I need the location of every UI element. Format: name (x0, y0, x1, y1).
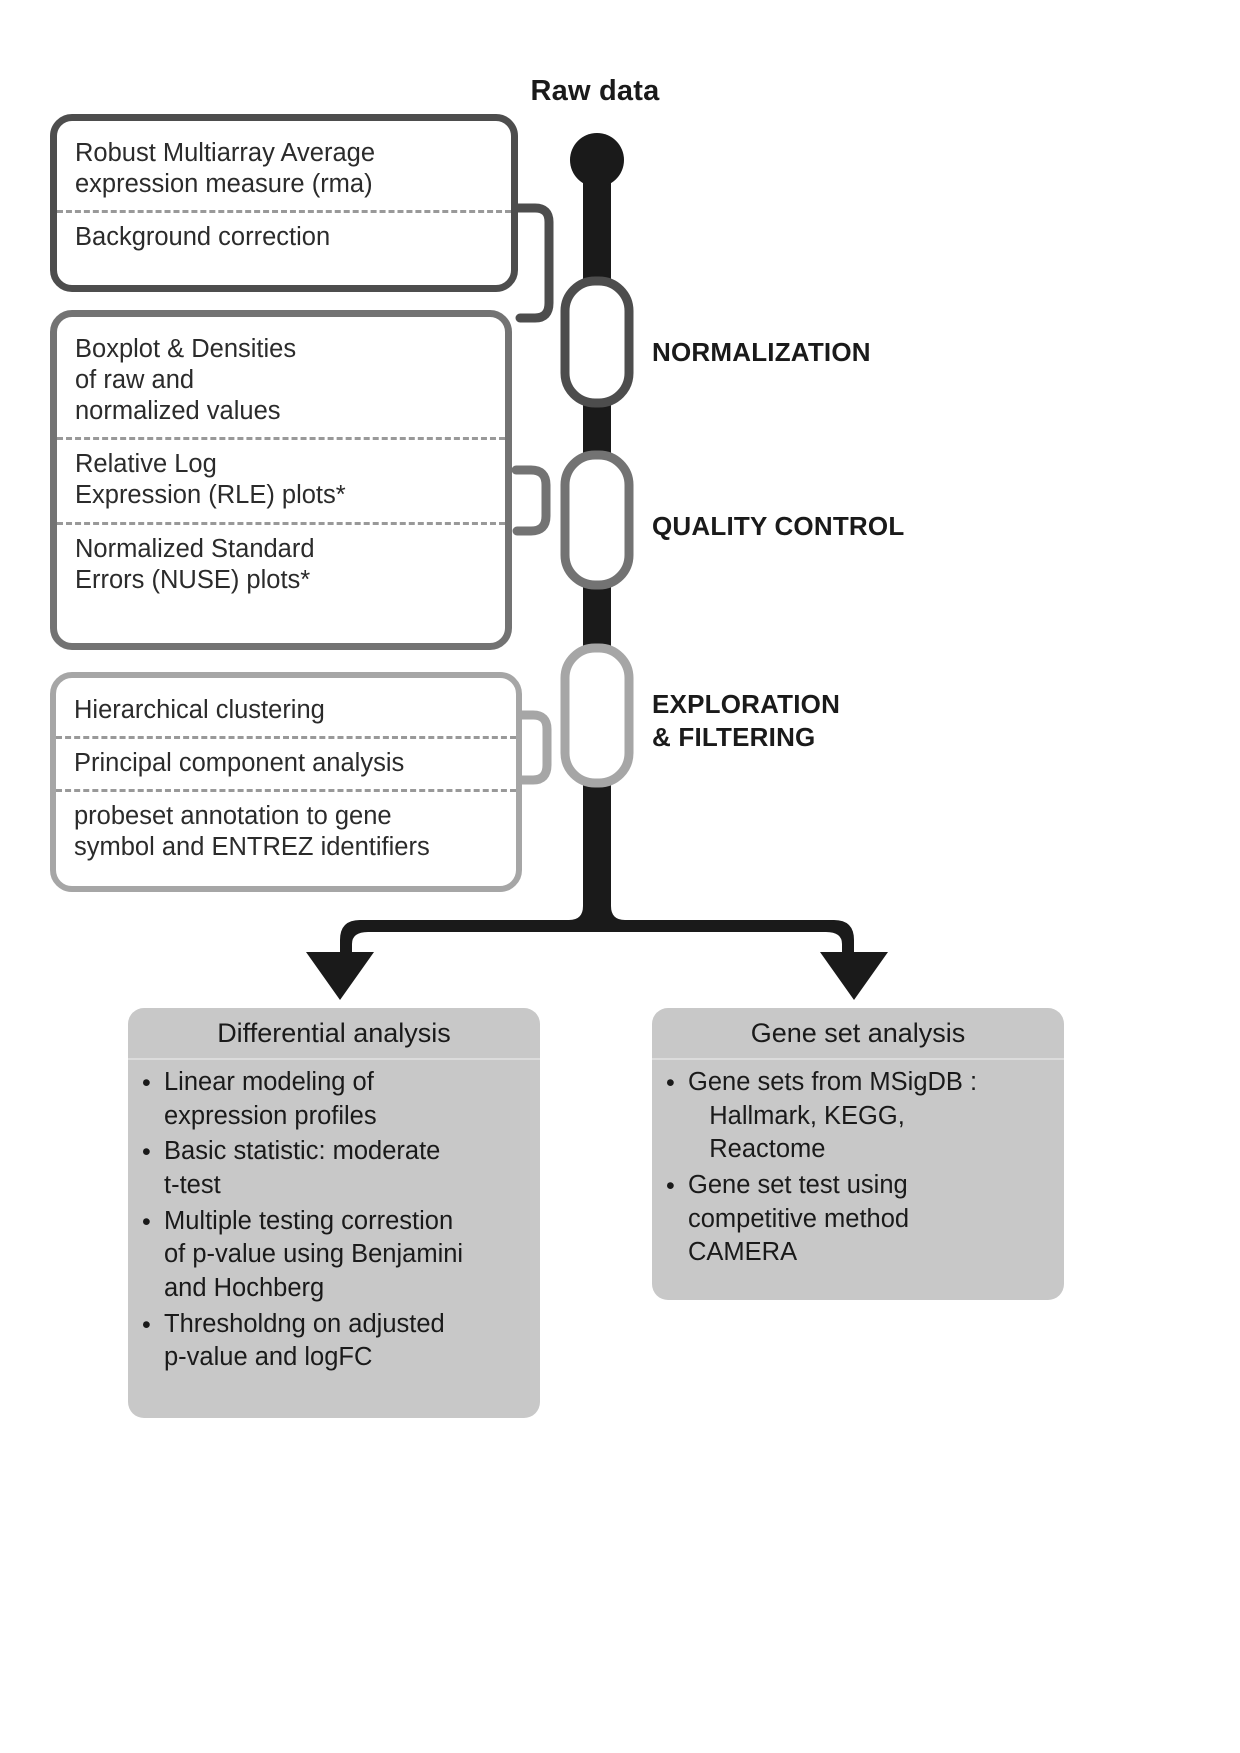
raw-data-node (570, 133, 624, 187)
bullet-icon: • (666, 1066, 688, 1100)
bullet-icon: • (666, 1169, 688, 1203)
stage-item-boxplot-densities: Boxplot & Densities of raw and normalize… (57, 325, 505, 437)
node-normalization (565, 281, 629, 403)
panel-body-differential-analysis: • Linear modeling of expression profiles… (128, 1060, 540, 1393)
panel-title-differential-analysis: Differential analysis (128, 1008, 540, 1060)
panel-title-gene-set-analysis: Gene set analysis (652, 1008, 1064, 1060)
bullet-text-linear-modeling: Linear modeling of expression profiles (164, 1066, 526, 1133)
list-item: • Thresholdng on adjusted p-value and lo… (142, 1308, 526, 1375)
connector-normalization (518, 208, 549, 318)
bullet-icon: • (142, 1205, 164, 1239)
bullet-text-basic-statistic: Basic statistic: moderate t-test (164, 1135, 526, 1202)
phase-label-quality-control: QUALITY CONTROL (652, 510, 904, 543)
bullet-text-gene-sets-msigdb: Gene sets from MSigDB : Hallmark, KEGG, … (688, 1066, 1050, 1167)
page-title: Raw data (430, 75, 760, 108)
list-item: • Gene sets from MSigDB : Hallmark, KEGG… (666, 1066, 1050, 1167)
workflow-diagram: Raw data Robust Multiarray Average expre… (0, 0, 1240, 1753)
connector-exploration (519, 715, 547, 780)
list-item: • Linear modeling of expression profiles (142, 1066, 526, 1133)
branch-fork-arrows (306, 880, 888, 1000)
bullet-icon: • (142, 1066, 164, 1100)
phase-label-normalization: NORMALIZATION (652, 336, 871, 369)
stage-item-pca: Principal component analysis (56, 736, 516, 789)
stage-item-hierarchical-clustering: Hierarchical clustering (56, 686, 516, 736)
stage-box-normalization: Robust Multiarray Average expression mea… (50, 114, 518, 292)
list-item: • Basic statistic: moderate t-test (142, 1135, 526, 1202)
stage-item-probeset-annotation: probeset annotation to gene symbol and E… (56, 789, 516, 873)
stage-box-quality-control: Boxplot & Densities of raw and normalize… (50, 310, 512, 650)
panel-body-gene-set-analysis: • Gene sets from MSigDB : Hallmark, KEGG… (652, 1060, 1064, 1288)
panel-gene-set-analysis: Gene set analysis • Gene sets from MSigD… (652, 1008, 1064, 1300)
bullet-text-camera: Gene set test using competitive method C… (688, 1169, 1050, 1270)
bullet-icon: • (142, 1135, 164, 1169)
phase-label-exploration-filtering: EXPLORATION & FILTERING (652, 688, 840, 755)
list-item: • Multiple testing correstion of p-value… (142, 1205, 526, 1306)
connector-quality-control (516, 470, 546, 531)
stage-item-rle-plots: Relative Log Expression (RLE) plots* (57, 437, 505, 521)
stage-item-rma: Robust Multiarray Average expression mea… (57, 129, 511, 210)
node-exploration (565, 648, 629, 783)
stage-item-background-correction: Background correction (57, 210, 511, 263)
bullet-icon: • (142, 1308, 164, 1342)
panel-differential-analysis: Differential analysis • Linear modeling … (128, 1008, 540, 1418)
bullet-text-multiple-testing: Multiple testing correstion of p-value u… (164, 1205, 526, 1306)
list-item: • Gene set test using competitive method… (666, 1169, 1050, 1270)
bullet-text-thresholding: Thresholdng on adjusted p-value and logF… (164, 1308, 526, 1375)
stage-box-exploration-filtering: Hierarchical clustering Principal compon… (50, 672, 522, 892)
stage-item-nuse-plots: Normalized Standard Errors (NUSE) plots* (57, 522, 505, 606)
node-quality-control (565, 455, 629, 585)
